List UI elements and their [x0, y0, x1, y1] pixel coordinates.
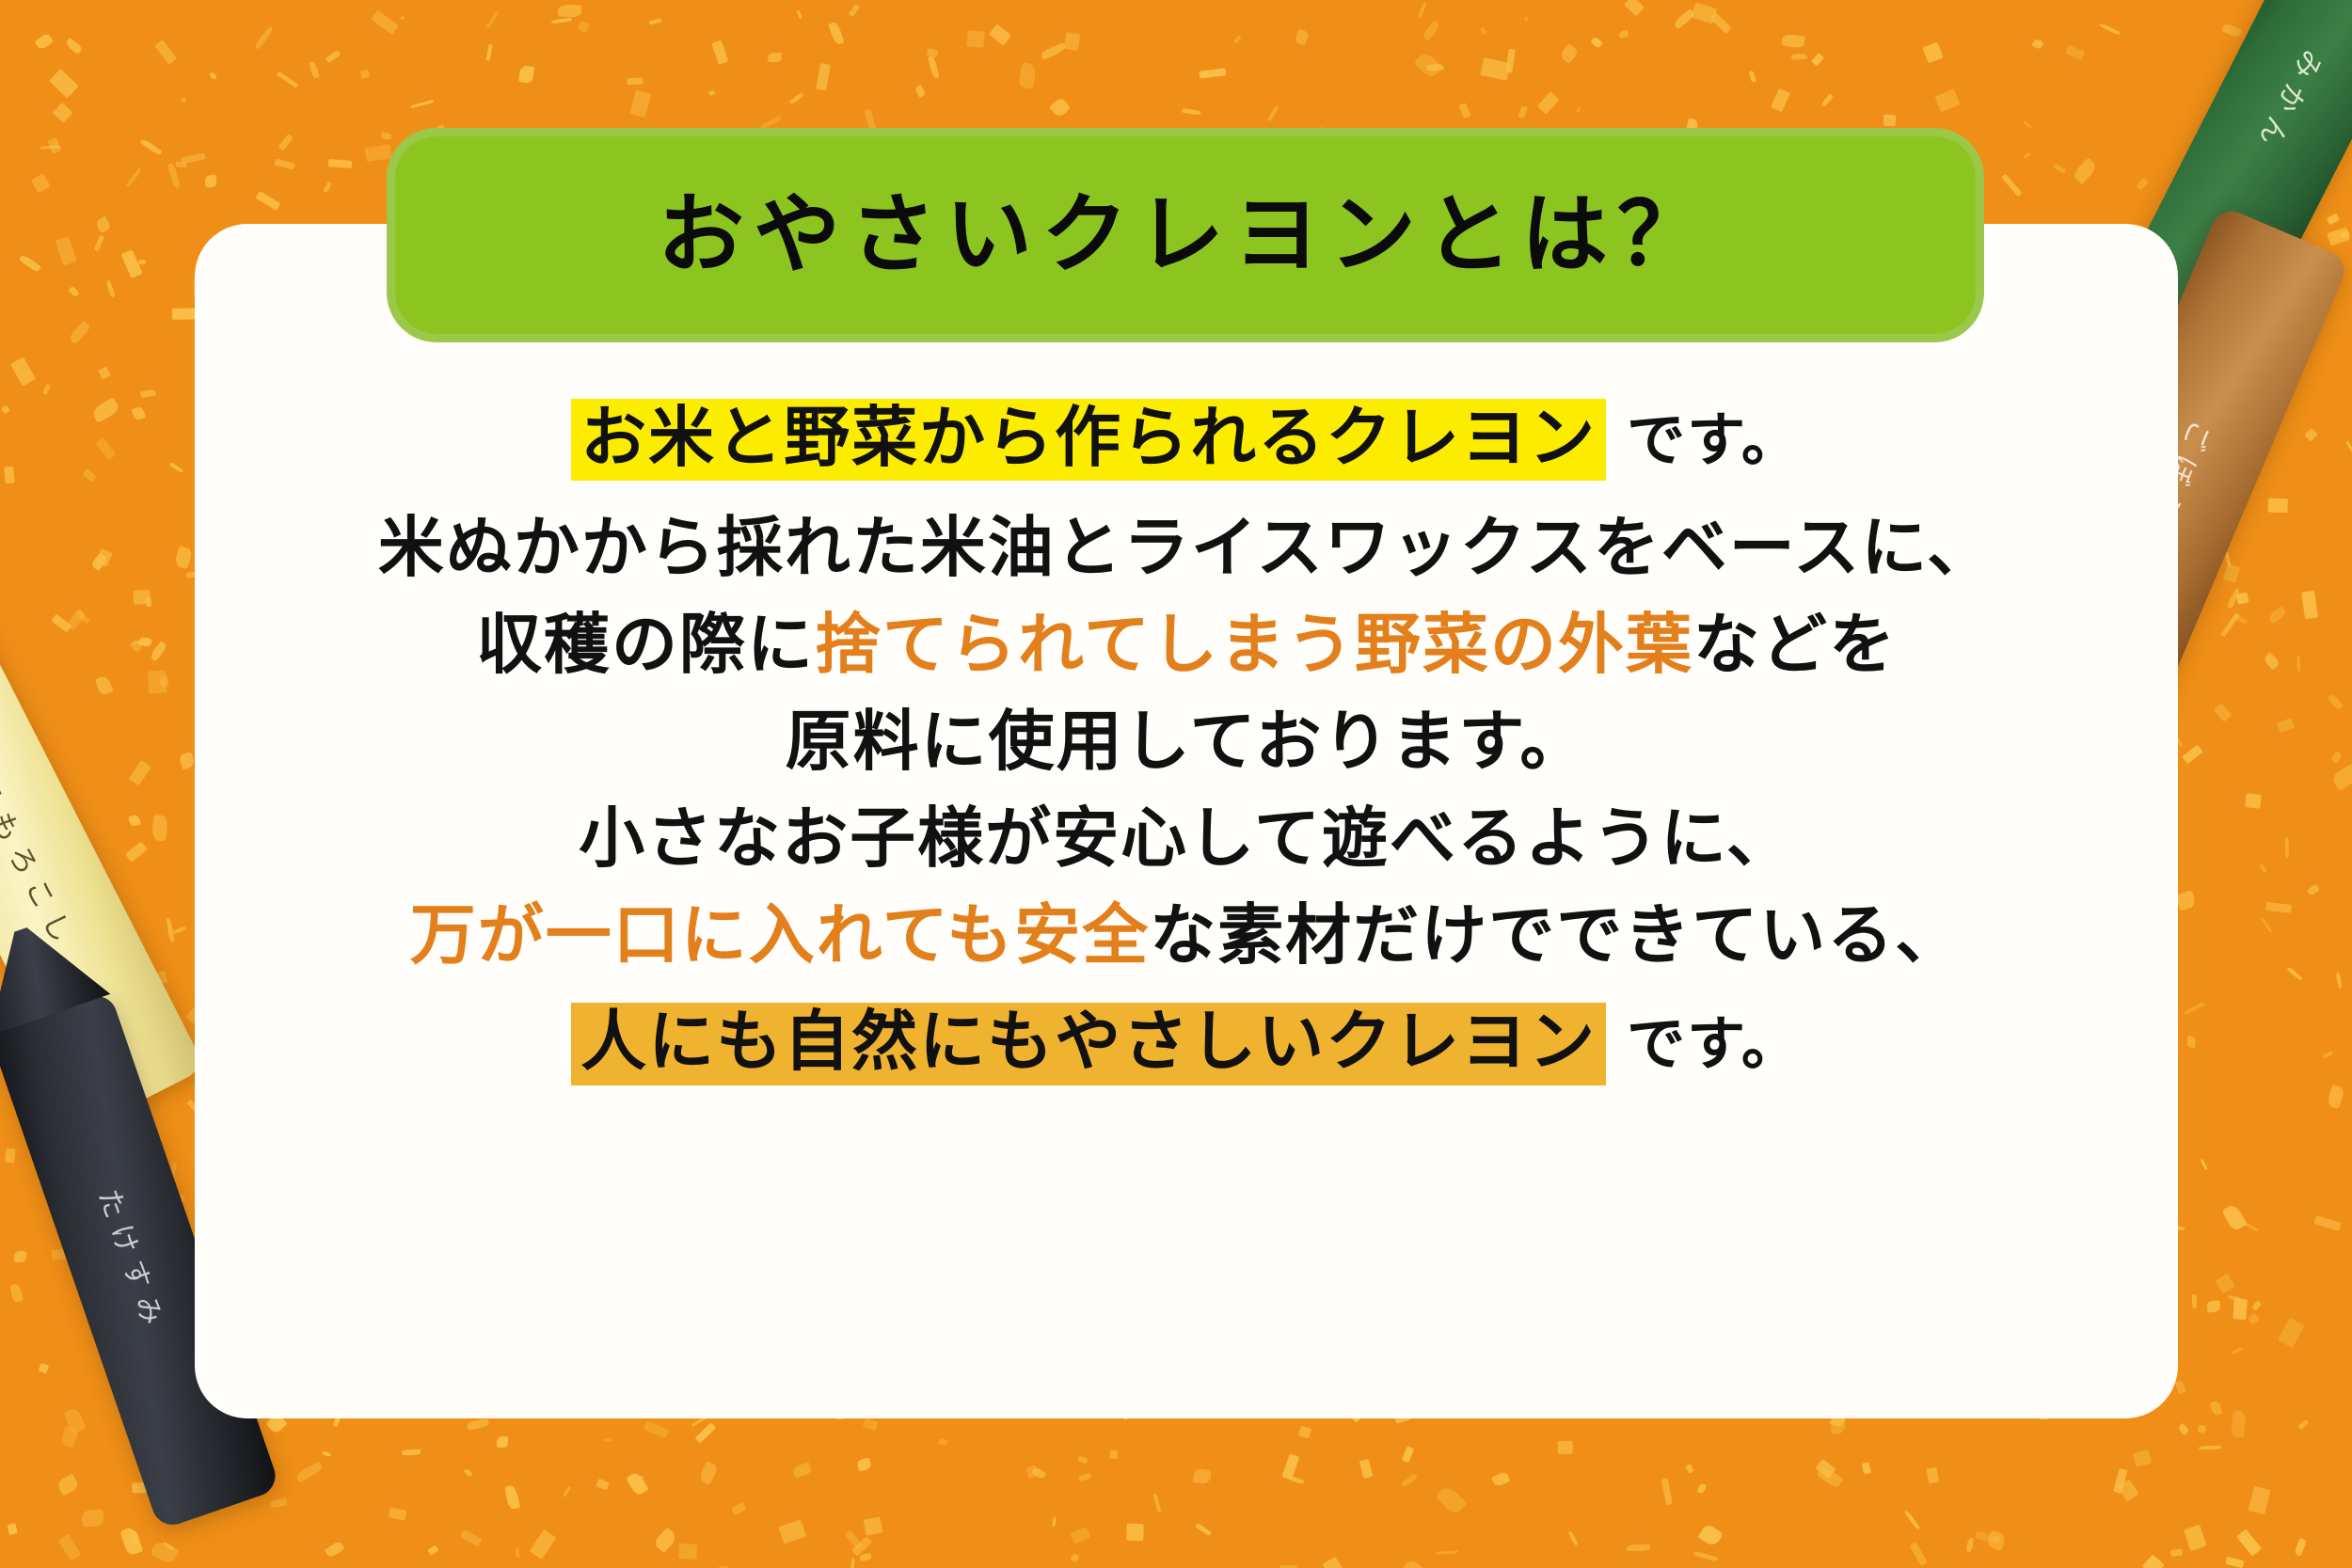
body-line-1: お米と野菜から作られるクレヨンです。 [195, 395, 2178, 481]
body-line-3-prefix: 収穫の際に [476, 606, 815, 683]
body-line-6-suffix: な素材だけでできている、 [1150, 896, 1963, 974]
black-crayon-label: たけすみ [90, 1182, 179, 1338]
body-line-3: 収穫の際に捨てられてしまう野菜の外葉などを [195, 602, 2178, 688]
highlight-rice-vegetable-crayon: お米と野菜から作られるクレヨン [571, 399, 1606, 481]
body-line-7: 人にも自然にもやさしいクレヨンです。 [195, 999, 2178, 1085]
green-crayon-label: みかん [2247, 44, 2335, 164]
body-line-4: 原料に使用しております。 [195, 699, 2178, 784]
body-line-3-suffix: などを [1693, 606, 1897, 683]
body-line-6: 万が一口に入れても安全な素材だけでできている、 [195, 893, 2178, 978]
body-line-2: 米ぬかから採れた米油とライスワックスをベースに、 [195, 505, 2178, 591]
highlight-gentle-crayon: 人にも自然にもやさしいクレヨン [571, 1003, 1606, 1085]
body-text-block: お米と野菜から作られるクレヨンです。 米ぬかから採れた米油とライスワックスをベー… [195, 395, 2178, 1097]
accent-safe-if-swallowed: 万が一口に入れても安全 [410, 896, 1150, 974]
body-line-1-tail: です。 [1606, 405, 1802, 474]
accent-discarded-outer-leaves: 捨てられてしまう野菜の外葉 [815, 606, 1693, 683]
body-line-5: 小さなお子様が安心して遊べるように、 [195, 796, 2178, 881]
page-title: おやさいクレヨンとは？ [658, 192, 1713, 278]
title-banner: おやさいクレヨンとは？ [395, 136, 1976, 334]
body-line-7-tail: です。 [1606, 1009, 1802, 1078]
